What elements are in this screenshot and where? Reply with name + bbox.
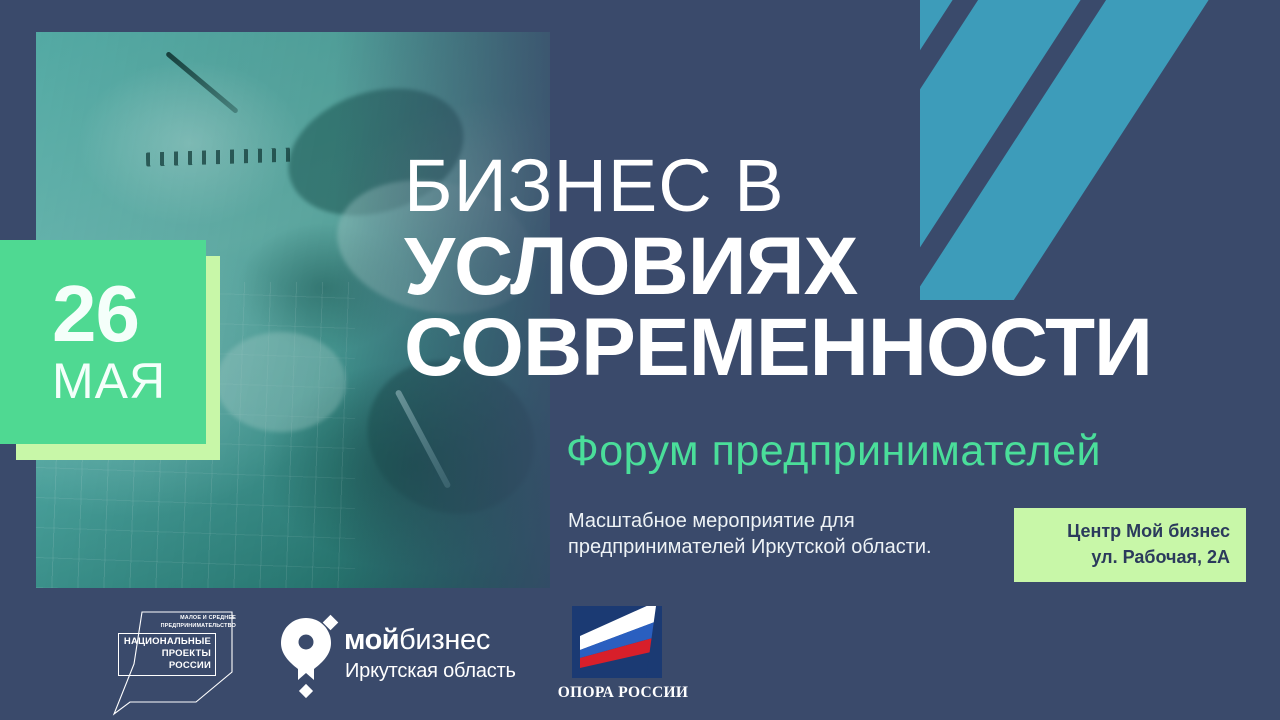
my-business-logo: мойбизнес Иркутская область <box>276 614 506 704</box>
my-business-word-light: бизнес <box>399 624 490 656</box>
national-projects-title-line-3: РОССИИ <box>123 660 211 672</box>
opora-flag-box <box>572 606 662 678</box>
headline-block: БИЗНЕС В УСЛОВИЯХ СОВРЕМЕННОСТИ <box>404 150 1234 388</box>
event-description-line-2: предпринимателей Иркутской области. <box>568 534 932 560</box>
event-subtitle: Форум предпринимателей <box>566 430 1101 473</box>
opora-rossii-logo: ОПОРА РОССИИ <box>562 606 722 712</box>
event-description: Масштабное мероприятие для предпринимате… <box>568 508 932 561</box>
venue-name: Центр Мой бизнес <box>1030 519 1230 545</box>
my-business-word-bold: мой <box>344 624 399 656</box>
my-business-region: Иркутская область <box>345 660 516 683</box>
opora-rossii-label: ОПОРА РОССИИ <box>548 684 698 702</box>
my-business-wordmark: мойбизнес <box>344 624 490 657</box>
headline-line-2: УСЛОВИЯХ <box>404 227 1234 307</box>
national-projects-kicker-line-1: МАЛОЕ И СРЕДНЕЕ <box>124 614 236 622</box>
logo-strip: МАЛОЕ И СРЕДНЕЕ ПРЕДПРИНИМАТЕЛЬСТВО НАЦИ… <box>0 596 1280 720</box>
national-projects-title: НАЦИОНАЛЬНЫЕ ПРОЕКТЫ РОССИИ <box>118 633 216 676</box>
national-projects-kicker-line-2: ПРЕДПРИНИМАТЕЛЬСТВО <box>124 622 236 630</box>
headline-line-1: БИЗНЕС В <box>404 150 1234 223</box>
headline-line-3: СОВРЕМЕННОСТИ <box>404 308 1234 388</box>
date-month: МАЯ <box>52 355 206 408</box>
map-pin-icon <box>276 614 340 700</box>
date-day: 26 <box>52 277 206 351</box>
event-description-line-1: Масштабное мероприятие для <box>568 508 932 534</box>
date-badge: 26 МАЯ <box>0 240 206 444</box>
venue-badge: Центр Мой бизнес ул. Рабочая, 2А <box>1014 508 1246 582</box>
national-projects-kicker: МАЛОЕ И СРЕДНЕЕ ПРЕДПРИНИМАТЕЛЬСТВО <box>124 614 236 630</box>
russian-flag-swoosh-icon <box>572 606 662 678</box>
venue-address: ул. Рабочая, 2А <box>1030 545 1230 571</box>
event-poster: 26 МАЯ БИЗНЕС В УСЛОВИЯХ СОВРЕМЕННОСТИ Ф… <box>0 0 1280 720</box>
national-projects-logo: МАЛОЕ И СРЕДНЕЕ ПРЕДПРИНИМАТЕЛЬСТВО НАЦИ… <box>100 606 250 716</box>
national-projects-title-line-1: НАЦИОНАЛЬНЫЕ <box>123 636 211 648</box>
national-projects-title-line-2: ПРОЕКТЫ <box>123 648 211 660</box>
